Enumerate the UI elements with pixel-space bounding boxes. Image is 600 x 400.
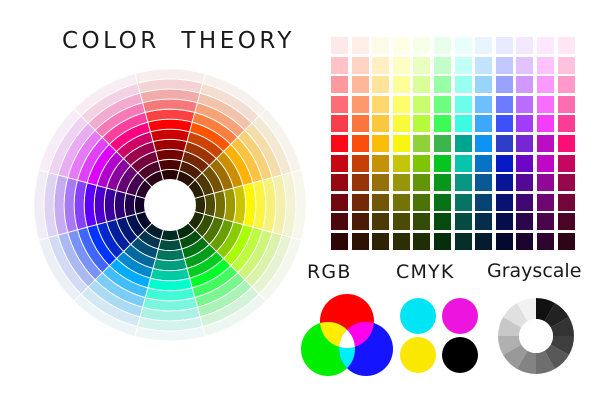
color-swatch: [516, 233, 533, 250]
color-swatch: [352, 233, 369, 250]
color-swatch: [496, 155, 513, 172]
color-swatch: [496, 213, 513, 230]
color-swatch: [558, 135, 575, 152]
color-swatch: [434, 96, 451, 113]
color-swatch: [475, 96, 492, 113]
color-swatch: [413, 96, 430, 113]
rgb-label: RGB: [307, 261, 352, 283]
grayscale-hub: [519, 319, 553, 353]
color-swatch: [537, 115, 554, 132]
cmyk-dot-cyan: [400, 298, 436, 334]
color-swatch: [537, 76, 554, 93]
color-swatch: [331, 37, 348, 54]
color-swatch: [393, 213, 410, 230]
wheel-segment: [224, 188, 236, 222]
color-swatch: [372, 213, 389, 230]
cmyk-dot-key: [442, 337, 478, 373]
color-swatch: [434, 155, 451, 172]
color-swatch: [558, 57, 575, 74]
color-swatch: [537, 155, 554, 172]
color-swatch: [496, 57, 513, 74]
wheel-segment: [94, 185, 106, 224]
color-swatch: [496, 135, 513, 152]
color-swatch: [516, 155, 533, 172]
color-swatch: [393, 96, 410, 113]
color-swatch: [331, 174, 348, 191]
color-swatch: [393, 233, 410, 250]
wheel-segment: [214, 191, 226, 220]
wheel-hub: [145, 180, 196, 231]
color-swatch: [455, 96, 472, 113]
wheel-segment: [150, 129, 189, 141]
color-theory-infographic: COLOR THEORY RGB CMYK Grayscale: [0, 0, 600, 400]
color-swatch: [413, 174, 430, 191]
color-swatch: [413, 37, 430, 54]
color-swatch: [372, 96, 389, 113]
color-swatch: [558, 76, 575, 93]
color-swatch: [475, 57, 492, 74]
grayscale-label: Grayscale: [487, 260, 581, 282]
color-swatch: [393, 115, 410, 132]
color-swatch: [455, 135, 472, 152]
color-swatch: [393, 57, 410, 74]
color-swatch: [496, 194, 513, 211]
color-swatch: [558, 37, 575, 54]
color-swatch: [516, 115, 533, 132]
color-swatch: [475, 135, 492, 152]
color-swatch: [413, 155, 430, 172]
color-swatch: [475, 174, 492, 191]
wheel-segment: [156, 249, 185, 261]
color-swatch: [413, 57, 430, 74]
color-swatch: [516, 76, 533, 93]
wheel-segment: [114, 191, 126, 220]
color-swatch: [393, 174, 410, 191]
color-swatch: [372, 115, 389, 132]
color-swatch: [455, 57, 472, 74]
color-swatch: [516, 174, 533, 191]
color-swatch: [537, 174, 554, 191]
color-swatch: [413, 115, 430, 132]
wheel-segment: [158, 239, 182, 250]
wheel-segment: [153, 259, 187, 271]
color-swatch: [475, 37, 492, 54]
color-wheel-svg: [33, 68, 307, 342]
grayscale-wheel: [495, 295, 577, 377]
color-swatch: [434, 115, 451, 132]
color-swatch: [558, 155, 575, 172]
color-swatch: [537, 135, 554, 152]
color-swatch: [372, 57, 389, 74]
color-swatch: [352, 115, 369, 132]
cmyk-dot-magenta: [442, 298, 478, 334]
color-swatch: [413, 135, 430, 152]
color-swatch: [393, 76, 410, 93]
color-swatch: [455, 174, 472, 191]
color-swatch: [496, 96, 513, 113]
color-swatch: [331, 155, 348, 172]
color-swatch: [393, 135, 410, 152]
color-swatch: [372, 174, 389, 191]
color-swatch: [331, 233, 348, 250]
color-swatch: [393, 194, 410, 211]
wheel-segment: [161, 169, 179, 180]
color-swatch: [455, 213, 472, 230]
color-swatch: [434, 194, 451, 211]
color-swatch: [434, 57, 451, 74]
swatch-grid: [331, 37, 575, 250]
color-swatch: [331, 213, 348, 230]
color-swatch: [372, 194, 389, 211]
color-swatch: [455, 233, 472, 250]
wheel-segment: [134, 196, 145, 214]
color-swatch: [475, 233, 492, 250]
color-swatch: [537, 57, 554, 74]
color-swatch: [516, 213, 533, 230]
rgb-venn-svg: [297, 292, 397, 380]
color-swatch: [393, 155, 410, 172]
color-swatch: [455, 194, 472, 211]
color-swatch: [434, 174, 451, 191]
color-swatch: [352, 37, 369, 54]
color-swatch: [352, 57, 369, 74]
color-swatch: [352, 213, 369, 230]
color-swatch: [496, 115, 513, 132]
color-swatch: [475, 194, 492, 211]
color-swatch: [455, 76, 472, 93]
color-swatch: [516, 96, 533, 113]
color-swatch: [475, 115, 492, 132]
color-swatch: [537, 194, 554, 211]
wheel-segment: [104, 188, 116, 222]
color-swatch: [352, 96, 369, 113]
wheel-segment: [161, 230, 179, 241]
wheel-segment: [124, 193, 135, 217]
color-swatch: [413, 213, 430, 230]
color-swatch: [558, 96, 575, 113]
wheel-segment: [156, 149, 185, 161]
color-swatch: [352, 174, 369, 191]
color-swatch: [352, 135, 369, 152]
color-swatch: [434, 213, 451, 230]
color-swatch: [455, 155, 472, 172]
color-swatch: [372, 135, 389, 152]
color-swatch: [434, 37, 451, 54]
color-swatch: [331, 96, 348, 113]
wheel-segment: [150, 268, 189, 280]
rgb-venn-diagram: [297, 292, 397, 380]
color-swatch: [413, 194, 430, 211]
color-swatch: [413, 233, 430, 250]
color-swatch: [455, 37, 472, 54]
color-swatch: [434, 233, 451, 250]
color-swatch: [331, 115, 348, 132]
color-swatch: [352, 155, 369, 172]
cmyk-swatches: [400, 298, 484, 376]
color-swatch: [352, 194, 369, 211]
color-swatch: [434, 135, 451, 152]
color-swatch: [558, 194, 575, 211]
color-swatch: [393, 37, 410, 54]
color-swatch: [558, 213, 575, 230]
color-swatch: [331, 57, 348, 74]
color-swatch: [496, 37, 513, 54]
color-swatch: [455, 115, 472, 132]
cmyk-label: CMYK: [396, 261, 455, 283]
color-swatch: [558, 233, 575, 250]
color-swatch: [372, 155, 389, 172]
grayscale-donut-svg: [495, 295, 577, 377]
color-swatch: [331, 135, 348, 152]
page-title: COLOR THEORY: [62, 28, 295, 54]
color-swatch: [352, 76, 369, 93]
color-swatch: [516, 135, 533, 152]
color-swatch: [331, 194, 348, 211]
color-swatch: [537, 96, 554, 113]
color-swatch: [496, 174, 513, 191]
color-swatch: [558, 115, 575, 132]
color-swatch: [331, 76, 348, 93]
color-swatch: [496, 233, 513, 250]
color-swatch: [434, 76, 451, 93]
color-swatch: [537, 233, 554, 250]
color-swatch: [475, 155, 492, 172]
cmyk-dot-yellow: [400, 337, 436, 373]
wheel-segment: [195, 196, 206, 214]
color-swatch: [537, 37, 554, 54]
color-swatch: [413, 76, 430, 93]
color-swatch: [537, 213, 554, 230]
color-swatch: [372, 233, 389, 250]
color-swatch: [516, 194, 533, 211]
color-swatch: [516, 57, 533, 74]
color-swatch: [496, 76, 513, 93]
color-swatch: [475, 213, 492, 230]
wheel-segment: [204, 193, 215, 217]
color-swatch: [558, 174, 575, 191]
wheel-segment: [233, 185, 245, 224]
wheel-segment: [158, 159, 182, 170]
color-swatch: [516, 37, 533, 54]
wheel-segment: [153, 139, 187, 151]
color-swatch: [372, 37, 389, 54]
color-wheel: [33, 68, 307, 342]
color-swatch: [475, 76, 492, 93]
color-swatch: [372, 76, 389, 93]
